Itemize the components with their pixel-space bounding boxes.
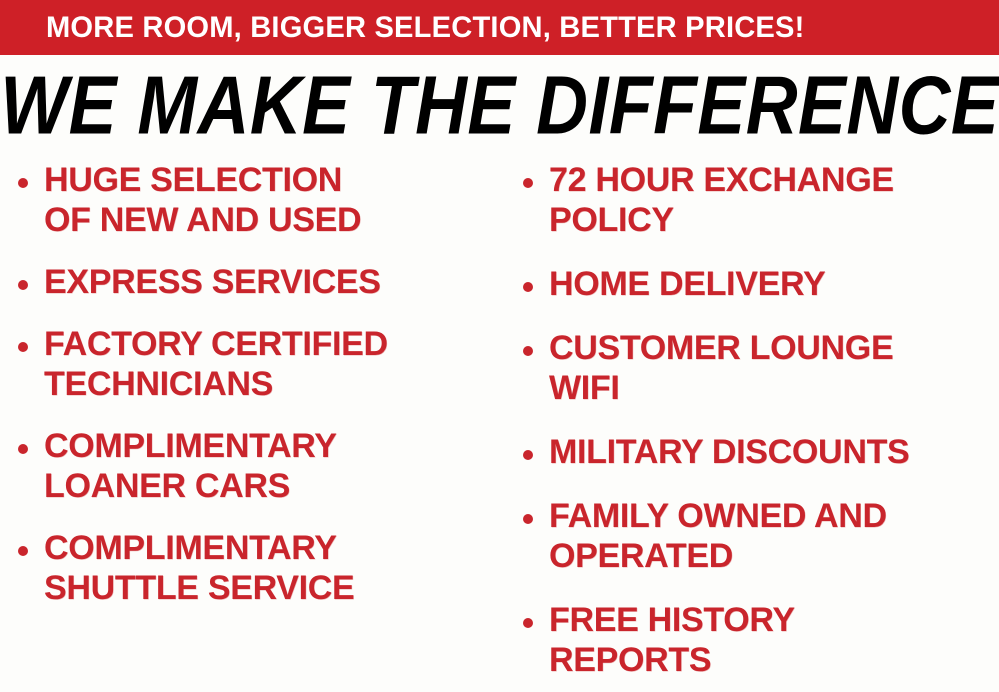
bullet-dot-icon — [18, 178, 28, 188]
list-item: HUGE SELECTION OF NEW AND USED — [18, 160, 505, 240]
list-item: HOME DELIVERY — [523, 264, 999, 304]
list-item: CUSTOMER LOUNGE WIFI — [523, 328, 999, 408]
features-columns: HUGE SELECTION OF NEW AND USED EXPRESS S… — [0, 160, 999, 692]
list-item: FACTORY CERTIFIED TECHNICIANS — [18, 324, 505, 404]
list-item: FAMILY OWNED AND OPERATED — [523, 496, 999, 576]
bullet-dot-icon — [18, 444, 28, 454]
bullet-dot-icon — [523, 178, 533, 188]
list-item: FREE HISTORY REPORTS — [523, 600, 999, 680]
list-item-label: COMPLIMENTARY LOANER CARS — [44, 426, 337, 506]
bullet-dot-icon — [18, 342, 28, 352]
list-item: MILITARY DISCOUNTS — [523, 432, 999, 472]
list-item: COMPLIMENTARY LOANER CARS — [18, 426, 505, 506]
list-item-label: HUGE SELECTION OF NEW AND USED — [44, 160, 361, 240]
features-column-right: 72 HOUR EXCHANGE POLICY HOME DELIVERY CU… — [505, 160, 999, 692]
list-item-label: FREE HISTORY REPORTS — [549, 600, 795, 680]
bullet-dot-icon — [523, 346, 533, 356]
list-item: COMPLIMENTARY SHUTTLE SERVICE — [18, 528, 505, 608]
list-item-label: EXPRESS SERVICES — [44, 262, 381, 302]
headline-text: WE MAKE THE DIFFERENCE — [0, 63, 999, 148]
bullet-dot-icon — [523, 618, 533, 628]
bullet-dot-icon — [18, 546, 28, 556]
features-column-left: HUGE SELECTION OF NEW AND USED EXPRESS S… — [0, 160, 505, 692]
bullet-dot-icon — [523, 282, 533, 292]
bullet-dot-icon — [523, 450, 533, 460]
list-item-label: FAMILY OWNED AND OPERATED — [549, 496, 887, 576]
promo-banner: MORE ROOM, BIGGER SELECTION, BETTER PRIC… — [0, 0, 999, 55]
promo-banner-text: MORE ROOM, BIGGER SELECTION, BETTER PRIC… — [46, 13, 805, 43]
list-item-label: COMPLIMENTARY SHUTTLE SERVICE — [44, 528, 354, 608]
list-item-label: 72 HOUR EXCHANGE POLICY — [549, 160, 894, 240]
bullet-dot-icon — [523, 514, 533, 524]
list-item-label: MILITARY DISCOUNTS — [549, 432, 909, 472]
list-item: 72 HOUR EXCHANGE POLICY — [523, 160, 999, 240]
list-item-label: FACTORY CERTIFIED TECHNICIANS — [44, 324, 388, 404]
list-item: EXPRESS SERVICES — [18, 262, 505, 302]
headline-container: WE MAKE THE DIFFERENCE — [0, 63, 999, 147]
bullet-dot-icon — [18, 280, 28, 290]
list-item-label: HOME DELIVERY — [549, 264, 825, 304]
list-item-label: CUSTOMER LOUNGE WIFI — [549, 328, 893, 408]
